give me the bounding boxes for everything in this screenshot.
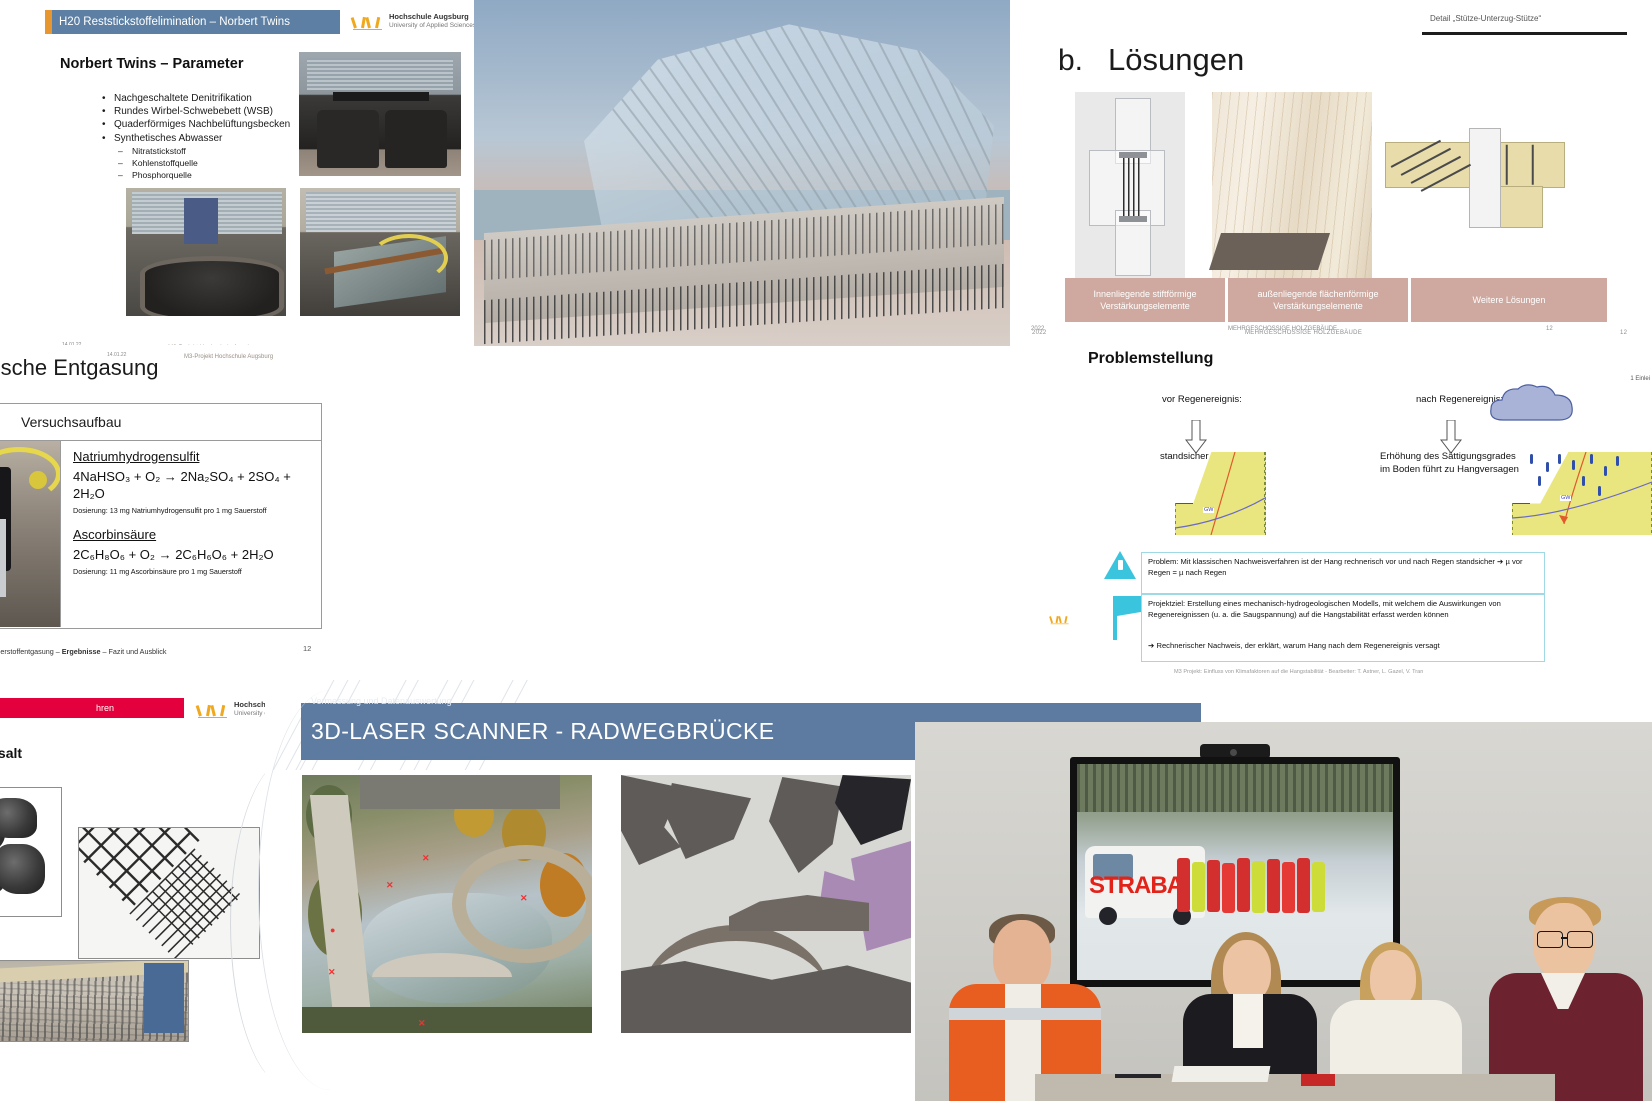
participant-4 bbox=[1485, 897, 1645, 1101]
target-marker-x: ✕ bbox=[418, 1018, 426, 1029]
table-header-row: Versuchsaufbau bbox=[0, 404, 321, 441]
sub-list-item: Kohlenstoffquelle bbox=[118, 157, 290, 169]
slide-title: 3D-LASER SCANNER - RADWEGBRÜCKE bbox=[311, 718, 775, 745]
photo-probe-setup: igene Aufnahme) bbox=[0, 441, 61, 627]
reagent-heading: Ascorbinsäure bbox=[73, 527, 311, 542]
rock-chunk bbox=[0, 798, 37, 838]
paper-document bbox=[1172, 1066, 1271, 1082]
hochschule-augsburg-logo: Hochschu University o bbox=[197, 700, 270, 718]
list-item: Nachgeschaltete Denitrifikation bbox=[100, 92, 290, 105]
caption-text: außenliegende flächenförmige Verstärkung… bbox=[1257, 288, 1378, 312]
steel-plate-top bbox=[1119, 152, 1147, 158]
title-accent-bar bbox=[45, 10, 52, 34]
dosage-text: Dosierung: 11 mg Ascorbinsäure pro 1 mg … bbox=[73, 567, 311, 576]
rain-cloud-icon bbox=[1487, 382, 1577, 429]
reaction-equation: 2C₆H₈O₆ + O₂ → 2C₆H₆O₆ + 2H₂O bbox=[73, 546, 311, 563]
corner-underline bbox=[1422, 32, 1627, 35]
header-page-number: 12 bbox=[1620, 330, 1627, 336]
round-tank bbox=[140, 256, 284, 316]
caption-further-solutions: Weitere Lösungen bbox=[1411, 278, 1607, 322]
screw-icon bbox=[1532, 145, 1534, 185]
quarry-rock-face bbox=[360, 775, 560, 809]
caption-outer-reinforcement: außenliegende flächenförmige Verstärkung… bbox=[1228, 278, 1408, 322]
logo-name: Hochschule Augsburg bbox=[389, 13, 476, 22]
yellow-hose bbox=[370, 234, 448, 282]
list-item: Synthetisches Abwasser bbox=[100, 132, 290, 145]
crew-member bbox=[1192, 862, 1205, 912]
caption-inner-reinforcement: Innenliegende stiftförmige Verstärkungse… bbox=[1065, 278, 1225, 322]
red-folder bbox=[1301, 1074, 1335, 1086]
detail-corner-note: Detail „Stütze-Unterzug-Stütze“ bbox=[1430, 14, 1636, 23]
parameter-bullet-list: Nachgeschaltete Denitrifikation Rundes W… bbox=[60, 92, 290, 181]
arrow-down-icon bbox=[1185, 420, 1207, 454]
head bbox=[993, 920, 1051, 992]
dosage-text: Dosierung: 13 mg Natriumhydrogensulfit p… bbox=[73, 506, 311, 515]
crew-member bbox=[1252, 861, 1265, 913]
crew-member bbox=[1297, 858, 1310, 913]
photo-quarry-aerial: ✕ ✕ ✕ ● ✕ ✕ bbox=[302, 775, 592, 1033]
breadcrumb-pre: hkeiten der Sauerstoffentgasung – bbox=[0, 647, 62, 656]
target-marker-x: ✕ bbox=[520, 893, 528, 904]
target-marker-circle: ● bbox=[330, 925, 335, 935]
strabag-logo-text: STRABA bbox=[1089, 872, 1183, 900]
board-end-grain bbox=[1209, 233, 1330, 270]
footer-page-number: 12 bbox=[303, 644, 311, 653]
render-bridge-pavilion[interactable] bbox=[474, 0, 1010, 346]
slide-title: hemische Entgasung bbox=[0, 355, 158, 381]
background-trees bbox=[1077, 764, 1393, 812]
label-stable: standsicher bbox=[1160, 451, 1209, 462]
logo-mark-icon bbox=[1050, 613, 1070, 624]
screw-icon bbox=[1506, 145, 1508, 185]
logo-mark-icon bbox=[197, 700, 229, 718]
list-item: Rundes Wirbel-Schwebebett (WSB) bbox=[100, 105, 290, 118]
head bbox=[1223, 940, 1271, 1002]
reactor-tank-left bbox=[317, 110, 379, 168]
note-problem: Problem: Mit klassischen Nachweisverfahr… bbox=[1141, 552, 1545, 594]
yellow-knob bbox=[29, 471, 47, 489]
sub-bullet-list: Nitratstickstoff Kohlenstoffquelle Phosp… bbox=[100, 145, 290, 181]
pointcloud-fragment-dark bbox=[835, 775, 911, 845]
photo-basalt-rocks bbox=[0, 787, 62, 917]
slide-title-text: H20 Reststickstoffelimination – Norbert … bbox=[59, 16, 290, 28]
participant-1 bbox=[945, 912, 1105, 1101]
groundwater-label: GW bbox=[1560, 495, 1571, 501]
steel-dowels bbox=[1123, 154, 1141, 222]
caption-text: Innenliegende stiftförmige Verstärkungse… bbox=[1093, 288, 1196, 312]
target-marker-x: ✕ bbox=[328, 967, 336, 978]
video-call-tile[interactable]: STRABA bbox=[915, 722, 1652, 1101]
arrow-down-icon bbox=[1440, 420, 1462, 454]
reflective-stripe bbox=[949, 1008, 1101, 1020]
diagram-screwed-connection bbox=[1385, 120, 1563, 240]
breadcrumb-post: – Fazit und Ausblick bbox=[101, 647, 167, 656]
flag-pole bbox=[1113, 596, 1117, 640]
note-project-goal-arrow: ➔ Rechnerischer Nachweis, der erklärt, w… bbox=[1141, 637, 1545, 662]
logo-mark-icon bbox=[352, 12, 384, 30]
crew-member bbox=[1177, 858, 1190, 912]
slide-title-bar: H20 Reststickstoffelimination – Norbert … bbox=[45, 10, 340, 34]
target-marker-x: ✕ bbox=[422, 853, 430, 864]
breadcrumb-current: Ergebnisse bbox=[62, 647, 101, 656]
photo-basalt-mat-production bbox=[0, 960, 189, 1042]
rock-chunk bbox=[0, 844, 45, 894]
list-item: Quaderförmiges Nachbelüftungsbecken bbox=[100, 118, 290, 131]
hochschule-augsburg-logo: Hochschule Augsburg University of Applie… bbox=[352, 12, 476, 30]
pen bbox=[1115, 1074, 1161, 1078]
stirrer-motor bbox=[184, 198, 218, 244]
header-year: 2022 bbox=[1032, 330, 1047, 336]
caption-text: Weitere Lösungen bbox=[1473, 294, 1546, 306]
diagram-inner-dowel-reinforcement bbox=[1075, 92, 1185, 278]
timber-left bbox=[1385, 142, 1471, 188]
caption-after-rain-line1: Erhöhung des Sättigungsgrades bbox=[1380, 451, 1516, 462]
reaction-equation: 4NaHSO₃ + O₂ → 2Na₂SO₄ + 2SO₄ + 2H₂O bbox=[73, 468, 311, 502]
slide-title-bar-text: hren bbox=[96, 703, 114, 713]
logo-subtitle: University of Applied Sciences bbox=[389, 22, 476, 29]
photo-norbert-twins-reactors bbox=[299, 52, 461, 176]
glasses-bridge bbox=[1561, 937, 1567, 939]
sub-list-item: Phosphorquelle bbox=[118, 169, 290, 181]
section-letter: b. bbox=[1058, 44, 1083, 78]
window-blinds bbox=[306, 192, 456, 232]
chapter-note: 1 Einlei bbox=[1630, 376, 1650, 382]
footer-breadcrumb: hkeiten der Sauerstoffentgasung – Ergebn… bbox=[0, 647, 166, 656]
glasses-icon bbox=[1537, 931, 1563, 948]
slide-h20-reststickstoff[interactable]: H20 Reststickstoffelimination – Norbert … bbox=[0, 0, 500, 358]
pointcloud-scan-result bbox=[621, 775, 911, 1033]
window-blinds bbox=[307, 58, 453, 90]
blouse bbox=[1233, 994, 1263, 1048]
crew-member bbox=[1222, 863, 1235, 913]
crew-member bbox=[1207, 860, 1220, 912]
hochschule-augsburg-logo bbox=[1050, 613, 1070, 624]
crew-member bbox=[1237, 858, 1250, 912]
table-content-cell: Natriumhydrogensulfit 4NaHSO₃ + O₂ → 2Na… bbox=[61, 441, 321, 628]
header-section: MEHRGESCHOSSIGE HOLZGEBÄUDE bbox=[1245, 330, 1362, 336]
caption-after-rain-line2: im Boden führt zu Hangversagen bbox=[1380, 464, 1519, 475]
foreground-vegetation bbox=[302, 1007, 592, 1033]
crew-member bbox=[1282, 862, 1295, 913]
table-header-label: Versuchsaufbau bbox=[21, 414, 121, 430]
crew-member bbox=[1312, 862, 1325, 912]
slide-title-bar-red: hren bbox=[0, 698, 184, 718]
slide-heading: Norbert Twins – Parameter bbox=[60, 56, 243, 72]
footer-page-number: 12 bbox=[1546, 326, 1553, 332]
prev-slide-footer-center: M3-Projekt Hochschule Augsburg bbox=[184, 354, 273, 360]
reactor-tank-right bbox=[385, 110, 447, 168]
crew-member bbox=[1267, 859, 1280, 913]
sub-list-item: Nitratstickstoff bbox=[118, 145, 290, 157]
meeting-table bbox=[1035, 1074, 1555, 1101]
steel-plate-bottom bbox=[1119, 216, 1147, 222]
pointcloud-fragment bbox=[769, 777, 843, 873]
warning-triangle-icon bbox=[1104, 551, 1136, 579]
pointcloud-deck bbox=[729, 895, 869, 931]
target-marker-x: ✕ bbox=[386, 880, 394, 891]
photo-timber-board bbox=[1212, 92, 1372, 278]
label-before-rain: vor Regenereignis: bbox=[1162, 394, 1242, 405]
slide-title: Problemstellung bbox=[1088, 350, 1213, 368]
gravel-ring-path bbox=[452, 845, 592, 963]
footer-credit: M3 Projekt: Einfluss von Klimafaktoren a… bbox=[1174, 669, 1423, 675]
slide-title: Lösungen bbox=[1108, 42, 1244, 78]
slide-title: terial: Basalt bbox=[0, 745, 22, 761]
reagent-heading: Natriumhydrogensulfit bbox=[73, 449, 311, 464]
glasses-icon bbox=[1567, 931, 1593, 948]
oxygen-probe-shaft bbox=[0, 519, 6, 597]
versuchsaufbau-table: Versuchsaufbau igene Aufnahme) Natriumhy… bbox=[0, 403, 322, 629]
groundwater-label: GW bbox=[1203, 507, 1214, 513]
worker-sleeve bbox=[144, 963, 184, 1033]
steel-profile bbox=[1469, 128, 1501, 228]
photo-nachbelueftungsbecken bbox=[300, 188, 460, 316]
photo-wirbel-schwebebett bbox=[126, 188, 286, 316]
warning-exclamation bbox=[1118, 560, 1123, 570]
norbert-sign bbox=[333, 92, 429, 101]
